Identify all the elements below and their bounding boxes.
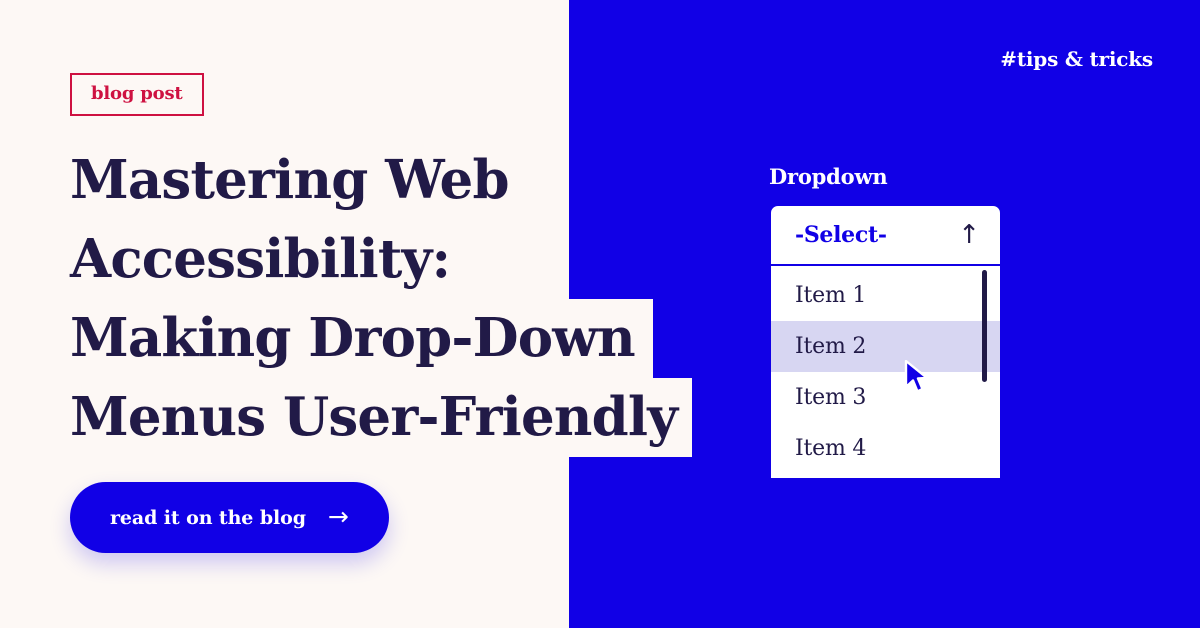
page-title: Mastering Web Accessibility: Making Drop…	[0, 141, 820, 457]
dropdown-option-list: Item 1 Item 2 Item 3 Item 4	[769, 266, 1002, 480]
blog-post-badge: blog post	[70, 73, 204, 116]
dropdown-option[interactable]: Item 3	[771, 372, 1000, 423]
arrow-right-icon: →	[328, 504, 349, 529]
dropdown-selected-value: -Select-	[795, 222, 958, 248]
scrollbar-thumb[interactable]	[982, 270, 987, 382]
read-blog-button[interactable]: read it on the blog →	[70, 482, 389, 553]
dropdown-toggle[interactable]: -Select- ↑	[769, 204, 1002, 266]
read-blog-button-label: read it on the blog	[110, 507, 306, 529]
dropdown-option[interactable]: Item 2	[771, 321, 1000, 372]
headline-line-1: Mastering Web	[0, 141, 820, 220]
dropdown-option[interactable]: Item 4	[771, 423, 1000, 474]
hashtag-label: #tips & tricks	[1000, 47, 1153, 71]
dropdown-widget: -Select- ↑ Item 1 Item 2 Item 3 Item 4	[769, 204, 1002, 480]
dropdown-field-label: Dropdown	[769, 164, 887, 189]
arrow-up-icon: ↑	[958, 222, 980, 248]
dropdown-option[interactable]: Item 1	[771, 270, 1000, 321]
headline-line-3: Making Drop-Down	[0, 299, 820, 378]
headline-line-4: Menus User-Friendly	[0, 378, 820, 457]
promo-graphic-canvas: blog post Mastering Web Accessibility: M…	[0, 0, 1200, 628]
headline-line-2: Accessibility:	[0, 220, 820, 299]
